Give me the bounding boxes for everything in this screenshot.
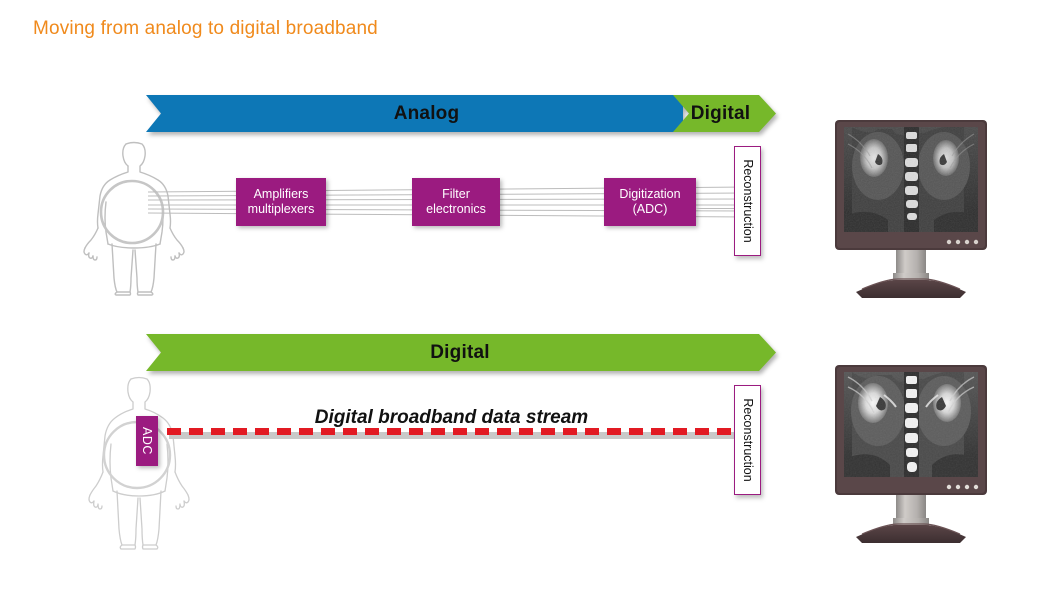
monitor-digital-reconstruction <box>818 363 1004 543</box>
process-box-amplifiers-line1: Amplifiers <box>254 187 309 202</box>
adc-badge-label: ADC <box>140 427 154 455</box>
reconstruction-box-digital[interactable]: Reconstruction <box>734 385 761 495</box>
banner-segment-digital-full: Digital <box>146 334 776 371</box>
banner-segment-digital-full-label: Digital <box>430 342 489 364</box>
banner-segment-digital: Digital <box>673 95 776 132</box>
banner-segment-analog: Analog <box>146 95 683 132</box>
banner-segment-digital-label: Digital <box>691 103 750 125</box>
digital-data-stream <box>167 428 736 440</box>
adc-badge[interactable]: ADC <box>136 416 158 466</box>
process-box-amplifiers-line2: multiplexers <box>248 202 315 217</box>
process-box-amplifiers[interactable]: Amplifiers multiplexers <box>236 178 326 226</box>
process-box-digitization-line1: Digitization <box>619 187 680 202</box>
reconstruction-box-analog-label: Reconstruction <box>741 159 755 242</box>
mri-monitor-icon <box>818 118 1004 298</box>
mri-monitor-icon <box>818 363 1004 543</box>
data-stream-dashes <box>167 428 736 435</box>
process-box-filter-line2: electronics <box>426 202 486 217</box>
data-stream-label: Digital broadband data stream <box>167 407 736 429</box>
reconstruction-box-analog[interactable]: Reconstruction <box>734 146 761 256</box>
monitor-analog-reconstruction <box>818 118 1004 298</box>
reconstruction-box-digital-label: Reconstruction <box>741 398 755 481</box>
digital-flow-banner: Digital <box>146 334 776 371</box>
process-box-filter-line1: Filter <box>442 187 470 202</box>
process-box-filter-electronics[interactable]: Filter electronics <box>412 178 500 226</box>
page-title: Moving from analog to digital broadband <box>33 18 378 40</box>
process-box-digitization-adc[interactable]: Digitization (ADC) <box>604 178 696 226</box>
process-box-digitization-line2: (ADC) <box>633 202 668 217</box>
analog-flow-banner: Analog Digital <box>146 95 776 132</box>
banner-segment-analog-label: Analog <box>394 103 460 125</box>
connector-adc-to-reconstruction <box>696 208 736 209</box>
